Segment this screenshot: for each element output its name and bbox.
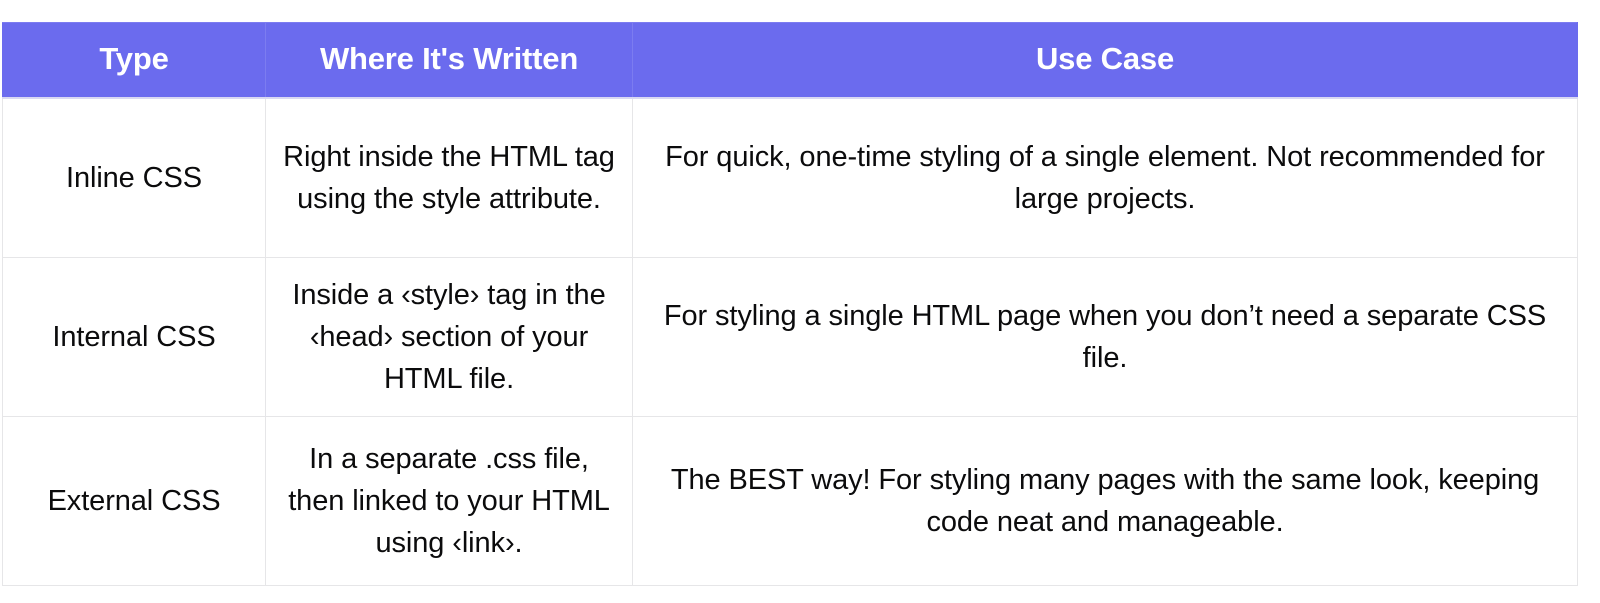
column-header-where-its-written: Where It's Written [266,23,633,98]
column-header-use-case: Use Case [633,23,1578,98]
column-header-type: Type [3,23,266,98]
page-root: Type Where It's Written Use Case Inline … [0,0,1600,603]
table-row: Inline CSS Right inside the HTML tag usi… [3,98,1578,258]
table-row: Internal CSS Inside a ‹style› tag in the… [3,258,1578,417]
table-header-row: Type Where It's Written Use Case [3,23,1578,98]
table-body: Inline CSS Right inside the HTML tag usi… [3,98,1578,586]
cell-where-external-css: In a separate .css file, then linked to … [266,417,633,586]
table-header: Type Where It's Written Use Case [3,23,1578,98]
cell-usecase-inline-css: For quick, one-time styling of a single … [633,98,1578,258]
cell-type-external-css: External CSS [3,417,266,586]
cell-where-inline-css: Right inside the HTML tag using the styl… [266,98,633,258]
cell-where-internal-css: Inside a ‹style› tag in the ‹head› secti… [266,258,633,417]
cell-usecase-external-css: The BEST way! For styling many pages wit… [633,417,1578,586]
cell-usecase-internal-css: For styling a single HTML page when you … [633,258,1578,417]
cell-type-inline-css: Inline CSS [3,98,266,258]
cell-type-internal-css: Internal CSS [3,258,266,417]
css-types-table: Type Where It's Written Use Case Inline … [2,22,1578,586]
table-row: External CSS In a separate .css file, th… [3,417,1578,586]
